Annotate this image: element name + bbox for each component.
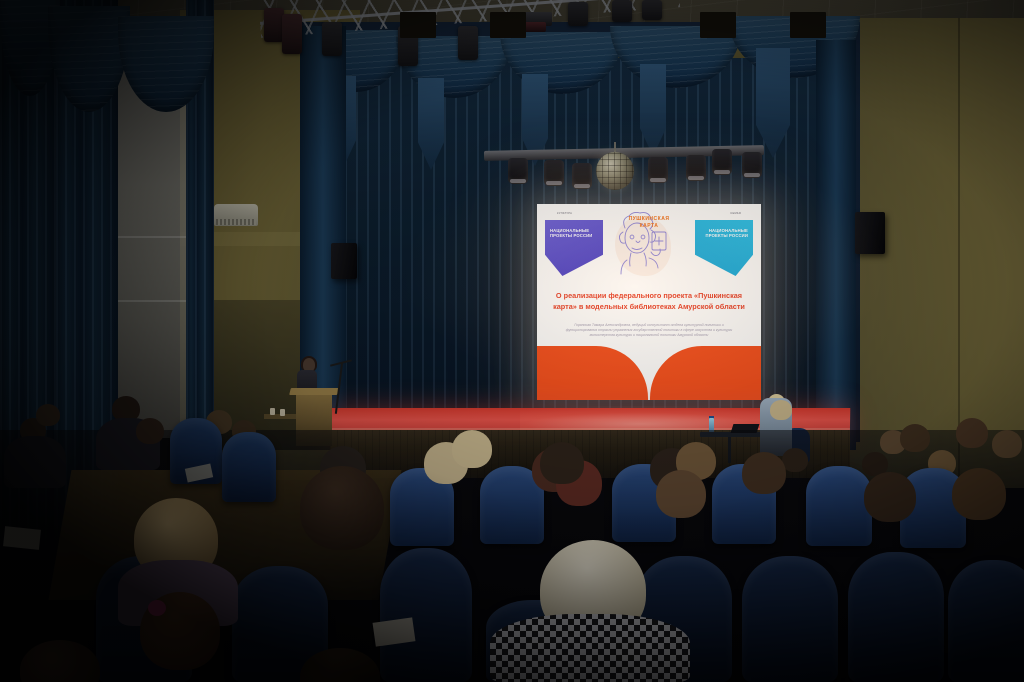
seat <box>742 556 838 682</box>
slide-subtitle: Горянская Тамара Александровна, ведущий … <box>565 323 733 339</box>
auditorium-photo: КУЛЬТУРА НАЦИОНАЛЬНЫЕ ПРОЕКТЫ РОССИИ <box>0 0 1024 682</box>
seat <box>948 560 1024 682</box>
window-mullion <box>118 300 190 302</box>
wall-right-seam <box>958 18 960 488</box>
par-light <box>712 149 732 175</box>
audience-head <box>956 418 988 448</box>
audience-head <box>300 466 384 550</box>
podium-top <box>289 388 339 395</box>
notebook <box>3 526 41 550</box>
slide-orange-shape-left <box>537 346 648 400</box>
air-conditioner-vent <box>216 219 256 225</box>
slide-title: О реализации федерального проекта «Пушки… <box>553 290 745 312</box>
apron-vent <box>490 12 526 38</box>
cup <box>280 409 285 416</box>
wall-speaker-right-icon <box>855 212 885 254</box>
hair-tie <box>148 600 166 616</box>
badge-national-projects-left: КУЛЬТУРА НАЦИОНАЛЬНЫЕ ПРОЕКТЫ РОССИИ <box>545 220 603 276</box>
audience-head <box>656 470 706 518</box>
seat <box>222 432 276 502</box>
truss-light <box>568 2 588 26</box>
badge-text: НАЦИОНАЛЬНЫЕ ПРОЕКТЫ РОССИИ <box>550 228 598 238</box>
truss-light <box>282 14 302 54</box>
stage-leg-right <box>816 40 856 450</box>
slide-orange-shape-right <box>650 346 761 400</box>
truss-light <box>458 26 478 60</box>
audience-head <box>782 448 808 472</box>
par-light <box>508 158 528 184</box>
badge-text: НАЦИОНАЛЬНЫЕ ПРОЕКТЫ РОССИИ <box>700 228 748 238</box>
par-light <box>742 152 762 178</box>
audience-head <box>136 418 164 444</box>
apron-vent <box>700 12 736 38</box>
cup <box>270 408 275 415</box>
wall-speaker-left-icon <box>331 243 357 279</box>
seat <box>848 552 944 682</box>
truss-light <box>642 0 662 20</box>
audience-head <box>864 472 916 522</box>
pushkin-card-label: ПУШКИНСКАЯ КАРТА <box>621 216 677 230</box>
audience-head <box>36 404 60 426</box>
audience-body <box>4 436 66 488</box>
proscenium-valance-row <box>304 30 856 108</box>
audience-head <box>770 400 792 420</box>
window-mullion <box>118 236 190 238</box>
par-light <box>648 157 668 183</box>
apron-vent <box>400 12 436 38</box>
audience-head <box>742 452 786 494</box>
par-light <box>686 155 706 181</box>
mirror-ball-icon <box>596 152 634 190</box>
valance-swag <box>500 32 624 94</box>
apron-vent <box>790 12 826 38</box>
par-light <box>572 163 592 189</box>
badge-national-projects-right: СЕМЬЯ НАЦИОНАЛЬНЫЕ ПРОЕКТЫ РОССИИ <box>695 220 753 276</box>
audience-head <box>452 430 492 468</box>
seat <box>806 466 872 546</box>
truss-light <box>322 22 342 56</box>
truss-light <box>612 0 632 22</box>
badge-kicker-label: КУЛЬТУРА <box>557 212 572 215</box>
audience-body <box>490 614 690 682</box>
badge-kicker-label: СЕМЬЯ <box>730 212 741 215</box>
par-light <box>544 160 564 186</box>
audience-head <box>992 430 1022 458</box>
seat <box>380 548 472 682</box>
audience-head <box>952 468 1006 520</box>
audience-head <box>540 442 584 484</box>
audience-head <box>900 424 930 452</box>
truss-light <box>264 8 284 42</box>
projection-screen: КУЛЬТУРА НАЦИОНАЛЬНЫЕ ПРОЕКТЫ РОССИИ <box>537 204 761 400</box>
